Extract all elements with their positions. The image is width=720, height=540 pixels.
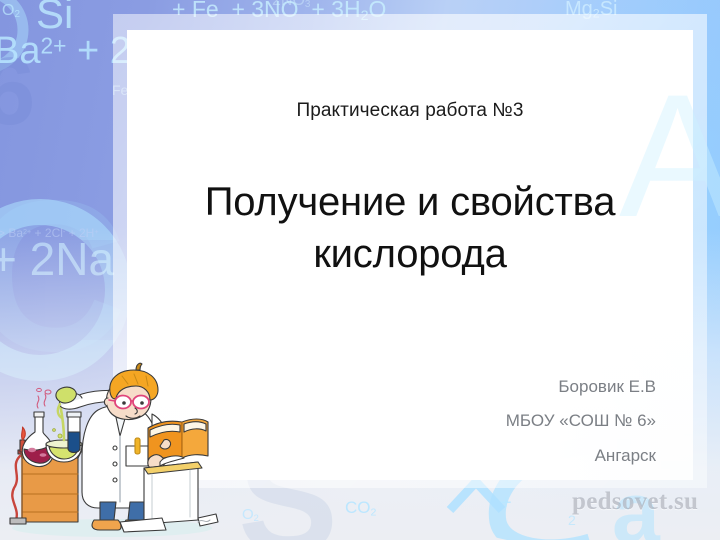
pedsovet-watermark: pedsovet.su — [572, 488, 698, 516]
slide-subtitle: Практическая работа №3 — [127, 100, 693, 122]
author-city: Ангарск — [300, 439, 656, 473]
author-name: Боровик Е.В — [300, 370, 656, 404]
chemist-head — [104, 363, 158, 419]
open-book — [148, 419, 208, 470]
slide-title-line-1: Получение и свойства — [137, 176, 683, 228]
presentation-slide: C 6 + Fe + 3NO + 3H2O Mg2Si Si O2 Ba2+ +… — [0, 0, 720, 540]
author-school: МБОУ «СОШ № 6» — [300, 404, 656, 438]
test-tube-blue — [67, 412, 81, 453]
chemist-illustration — [2, 352, 222, 538]
author-block: Боровик Е.В МБОУ «СОШ № 6» Ангарск — [300, 370, 656, 473]
slide-title-line-2: кислорода — [137, 228, 683, 280]
slide-title: Получение и свойства кислорода — [137, 176, 683, 280]
